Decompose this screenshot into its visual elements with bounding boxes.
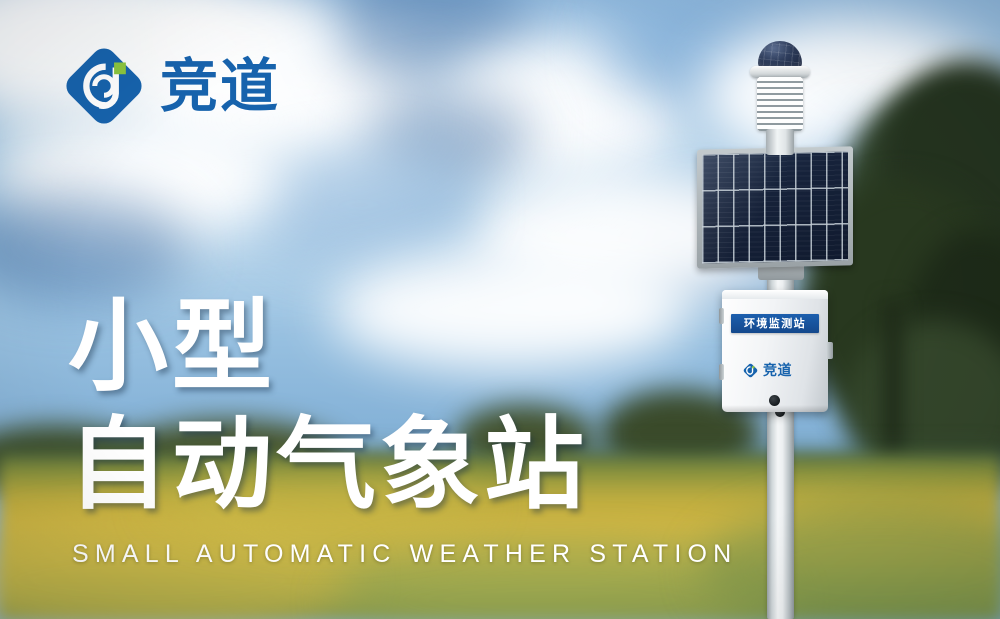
enclosure-label-banner: 环境监测站: [731, 314, 819, 333]
enclosure-bottom-shadow: [722, 405, 828, 412]
jingdao-diamond-logo-small: [742, 362, 759, 379]
enclosure-hinge: [719, 364, 724, 380]
subtitle: SMALL AUTOMATIC WEATHER STATION: [72, 540, 737, 569]
sensor-neck: [766, 129, 794, 155]
brand-name: 竞道: [160, 57, 280, 115]
enclosure-label-text: 环境监测站: [744, 318, 806, 329]
jingdao-diamond-logo: [62, 44, 146, 128]
enclosure-top-edge: [722, 290, 828, 299]
headline-line-2: 自动气象站: [68, 414, 588, 516]
headline-line-1: 小型: [68, 296, 588, 398]
enclosure-hinge: [719, 308, 724, 324]
brand-logo[interactable]: 竞道: [62, 44, 280, 128]
enclosure-latch: [826, 342, 833, 359]
page-title: 小型 自动气象站: [68, 296, 588, 516]
solar-panel-icon: [697, 146, 853, 268]
radiation-shield: [757, 77, 803, 131]
enclosure-brand-name: 竞道: [763, 364, 792, 378]
enclosure-brand-logo: 竞道: [742, 362, 792, 379]
solar-cells: [702, 151, 848, 263]
sensor-dome-facets: [758, 43, 802, 67]
ultrasonic-weather-sensor-icon: [744, 41, 816, 153]
product-banner: 环境监测站 竞道 竞道 小型 自动气: [0, 0, 1000, 619]
enclosure-box-icon: 环境监测站 竞道: [722, 290, 828, 412]
